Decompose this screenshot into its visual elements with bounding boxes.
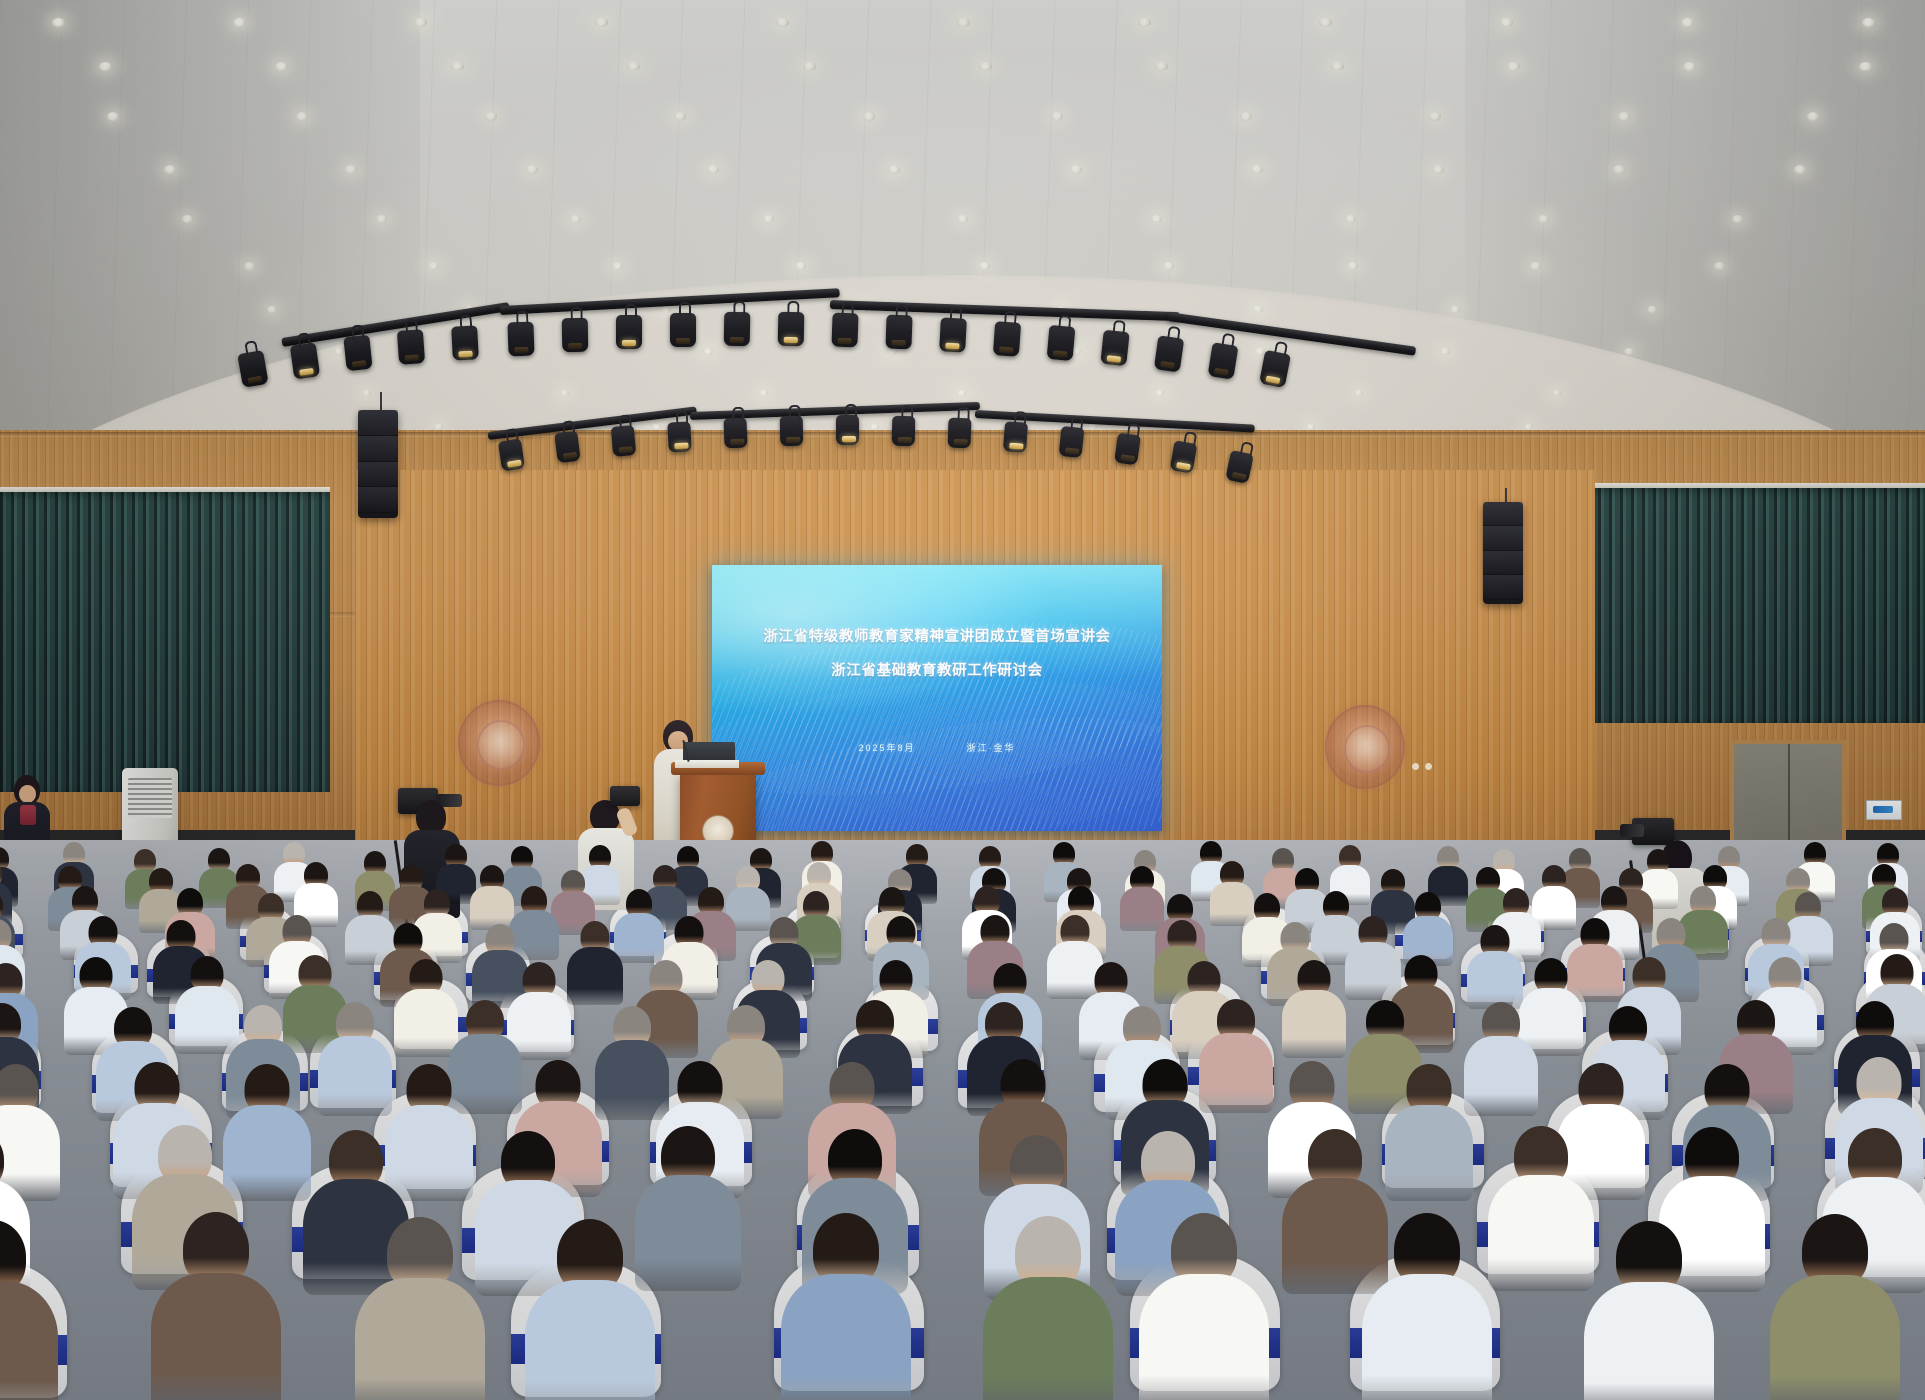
downlight [795, 262, 806, 270]
screen-title-line-2: 浙江省基础教育教研工作研讨会 [712, 661, 1162, 683]
downlight [362, 390, 371, 396]
par-can-upper-19 [1208, 342, 1239, 380]
downlight [674, 112, 686, 121]
par-can-upper-18 [1154, 335, 1184, 372]
par-lens [299, 368, 314, 376]
par-lens [892, 340, 906, 346]
attendee-body [983, 1277, 1113, 1400]
seated-attendee [781, 1213, 911, 1400]
staff-scarf [20, 805, 36, 825]
par-lens [784, 337, 798, 343]
par-can-upper-8 [616, 315, 642, 349]
par-can-lower-7 [836, 415, 859, 445]
staff-face [19, 785, 36, 803]
seated-attendee [151, 1212, 281, 1400]
seated-attendee [983, 1216, 1113, 1400]
seated-attendee [0, 1220, 58, 1400]
par-can-upper-13 [885, 315, 912, 350]
downlight [1251, 165, 1263, 174]
seated-attendee [1464, 1002, 1538, 1124]
par-lens [507, 460, 522, 468]
attendee-body [1770, 1275, 1900, 1400]
screen-location: 浙江·金华 [967, 741, 1016, 754]
par-lens [674, 443, 688, 450]
downlight [759, 390, 768, 396]
downlight [888, 165, 900, 174]
seated-attendee [1199, 999, 1273, 1121]
downlight [1450, 306, 1460, 313]
attendee-body [1139, 1274, 1269, 1400]
wall-indicator-dot-1 [1412, 763, 1419, 770]
par-can-lower-8 [892, 416, 916, 446]
par-lens [730, 439, 744, 445]
par-lens [405, 354, 419, 361]
downlight [1500, 18, 1513, 27]
par-lens [945, 343, 959, 350]
par-lens [999, 346, 1013, 353]
par-can-upper-5 [451, 325, 479, 360]
downlight [428, 262, 439, 270]
downlight [526, 165, 538, 174]
par-can-upper-15 [993, 321, 1021, 357]
downlight [107, 112, 119, 121]
attendee-body [567, 947, 623, 1005]
seated-attendee [1385, 1064, 1473, 1210]
teal-slat-curtain-left [0, 492, 330, 792]
par-lens [1176, 462, 1191, 470]
attendee-body [781, 1274, 911, 1400]
par-can-upper-11 [778, 312, 805, 346]
downlight [1354, 390, 1363, 396]
seated-attendee [1770, 1214, 1900, 1400]
attendee-body [525, 1280, 655, 1400]
par-lens [1214, 368, 1229, 376]
attendee-body [1488, 1175, 1594, 1291]
line-array-loudspeaker-left [358, 410, 398, 518]
downlight [414, 18, 427, 27]
seated-attendee [355, 1217, 485, 1400]
speaker-cabinet-r2 [1483, 526, 1523, 550]
downlight [244, 262, 255, 270]
downlight [1240, 112, 1252, 121]
downlight [776, 18, 789, 27]
speaker-cabinet-1 [358, 410, 398, 436]
seated-attendee [1139, 1213, 1269, 1400]
par-can-upper-17 [1100, 330, 1129, 367]
attendee-body [1584, 1282, 1714, 1400]
photographer-camera [610, 786, 640, 806]
seated-attendee [1488, 1126, 1594, 1302]
downlight [612, 262, 623, 270]
attendee-body [318, 1036, 392, 1116]
downlight [1732, 215, 1743, 223]
audience-area [0, 840, 1925, 1400]
par-can-upper-3 [343, 335, 372, 372]
par-lens [1120, 454, 1135, 462]
line-array-loudspeaker-right [1483, 502, 1523, 604]
par-can-lower-1 [498, 438, 525, 471]
par-lens [786, 437, 800, 443]
seated-attendee [525, 1219, 655, 1400]
downlight [1429, 112, 1441, 121]
par-can-lower-3 [611, 425, 637, 457]
screen-title-line-1: 浙江省特级教师教育家精神宣讲团成立暨首场宣讲会 [712, 627, 1162, 649]
downlight [570, 215, 581, 223]
par-lens [352, 360, 367, 367]
downlight [1155, 390, 1164, 396]
downlight [334, 348, 344, 355]
par-can-upper-14 [939, 317, 967, 352]
par-lens [1232, 472, 1247, 481]
screen-meta-line: 2025年8月 浙江·金华 [712, 741, 1162, 754]
attendee-body [1464, 1036, 1538, 1116]
par-can-upper-2 [290, 342, 320, 379]
attendee-body [1385, 1105, 1473, 1201]
downlight [957, 215, 968, 223]
seated-attendee [1362, 1213, 1492, 1400]
downlight [1319, 18, 1332, 27]
par-lens [1065, 447, 1080, 454]
par-lens [1053, 350, 1067, 357]
par-can-lower-6 [780, 416, 804, 446]
downlight [1070, 165, 1082, 174]
par-can-lower-9 [947, 418, 971, 449]
downlight [1051, 112, 1063, 121]
par-lens [838, 338, 852, 344]
downlight [1347, 262, 1358, 270]
downlight [979, 62, 992, 71]
seated-attendee [1584, 1221, 1714, 1400]
downlight [1163, 262, 1174, 270]
par-can-lower-4 [667, 421, 692, 452]
par-lens [1107, 355, 1122, 362]
downlight [1331, 62, 1344, 71]
par-lens [458, 351, 472, 358]
downlight [451, 62, 464, 71]
downlight [233, 18, 246, 27]
attendee-body [0, 1281, 58, 1400]
downlight [627, 62, 640, 71]
par-lens [622, 340, 636, 346]
speaker-cabinet-3 [358, 462, 398, 488]
par-can-upper-6 [507, 322, 534, 357]
par-lens [563, 452, 578, 460]
speaker-cabinet-r4 [1483, 575, 1523, 599]
par-can-lower-5 [723, 418, 747, 449]
ac-vent-grille [128, 778, 172, 818]
led-stage-screen: 浙江省特级教师教育家精神宣讲团成立暨首场宣讲会 浙江省基础教育教研工作研讨会 2… [712, 565, 1162, 831]
downlight [1507, 62, 1520, 71]
par-lens [730, 337, 744, 343]
downlight [376, 215, 387, 223]
attendee-body [1199, 1033, 1273, 1113]
par-can-upper-4 [397, 329, 425, 365]
screen-title-block: 浙江省特级教师教育家精神宣讲团成立暨首场宣讲会 浙江省基础教育教研工作研讨会 [712, 627, 1162, 683]
downlight [1440, 348, 1450, 355]
downlight [485, 112, 497, 121]
par-lens [247, 376, 262, 384]
downlight [1862, 18, 1875, 27]
par-can-upper-16 [1047, 325, 1076, 361]
par-can-lower-2 [554, 431, 580, 464]
downlight [1807, 112, 1819, 121]
speaker-cabinet-r1 [1483, 502, 1523, 526]
downlight [1613, 165, 1625, 174]
speaker-cabinet-r3 [1483, 551, 1523, 575]
downlight [957, 18, 970, 27]
speaker-cabinet-4 [358, 487, 398, 513]
attendee-body [355, 1278, 485, 1400]
downlight [52, 18, 65, 27]
par-can-lower-10 [1003, 421, 1028, 453]
par-can-upper-10 [724, 312, 751, 346]
par-lens [842, 436, 856, 442]
par-can-upper-7 [562, 318, 589, 352]
downlight [267, 306, 277, 313]
screen-date: 2025年8月 [858, 741, 915, 754]
lectern-papers [675, 760, 739, 768]
auditorium-scene: 浙江省特级教师教育家精神宣讲团成立暨首场宣讲会 浙江省基础教育教研工作研讨会 2… [0, 0, 1925, 1400]
downlight [887, 348, 897, 355]
par-lens [1265, 376, 1280, 385]
attendee-body [1282, 990, 1346, 1058]
downlight [763, 215, 774, 223]
downlight [275, 62, 288, 71]
downlight [979, 262, 990, 270]
par-can-upper-12 [831, 313, 858, 348]
downlight [707, 165, 719, 174]
par-lens [1009, 443, 1023, 450]
downlight [863, 112, 875, 121]
downlight [164, 165, 176, 174]
downlight [1618, 112, 1630, 121]
lectern-top [671, 762, 765, 775]
par-lens [954, 439, 968, 445]
speaker-cabinet-2 [358, 436, 398, 462]
downlight [99, 62, 112, 71]
downlight [1647, 306, 1657, 313]
downlight [595, 18, 608, 27]
video-camera-lens-right [1620, 824, 1644, 837]
par-can-upper-9 [670, 313, 696, 347]
par-lens [1160, 361, 1175, 369]
downlight [1138, 18, 1151, 27]
attendee-body [1467, 951, 1523, 1009]
wall-sign [1866, 800, 1902, 820]
downlight [1683, 62, 1696, 71]
university-crest-right [1325, 705, 1405, 789]
university-crest-left [458, 700, 540, 786]
downlight [803, 62, 816, 71]
downlight [1624, 348, 1634, 355]
par-lens [619, 446, 633, 453]
par-lens [514, 347, 528, 353]
par-lens [898, 437, 912, 443]
downlight [296, 112, 308, 121]
downlight [1538, 215, 1549, 223]
downlight [560, 390, 569, 396]
downlight [1859, 62, 1872, 71]
par-can-lower-11 [1058, 426, 1084, 458]
par-lens [676, 338, 690, 344]
par-lens [568, 343, 582, 349]
downlight [1155, 62, 1168, 71]
operator-head-left [416, 800, 446, 834]
wall-indicator-dot-2 [1425, 763, 1432, 770]
attendee-body [151, 1273, 281, 1400]
downlight [1681, 18, 1694, 27]
downlight [661, 306, 671, 313]
par-can-lower-12 [1114, 433, 1141, 466]
downlight [1345, 215, 1356, 223]
seated-attendee [567, 921, 623, 1011]
downlight [1794, 165, 1806, 174]
downlight [957, 390, 966, 396]
downlight [1151, 215, 1162, 223]
downlight [1552, 390, 1561, 396]
downlight [1432, 165, 1444, 174]
attendee-body [1362, 1274, 1492, 1400]
downlight [345, 165, 357, 174]
par-can-upper-1 [237, 350, 269, 388]
seated-attendee [1282, 960, 1346, 1064]
downlight [182, 215, 193, 223]
seated-attendee [318, 1002, 392, 1124]
downlight [1530, 262, 1541, 270]
downlight [1253, 306, 1263, 313]
downlight [703, 348, 713, 355]
downlight [1714, 262, 1725, 270]
